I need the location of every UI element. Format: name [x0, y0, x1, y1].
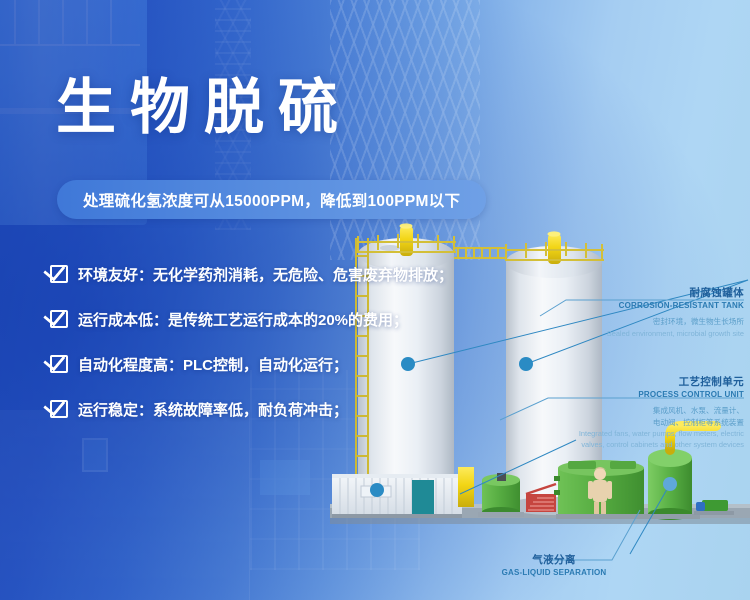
subtitle-text: 处理硫化氢浓度可从15000PPM，降低到100PPM以下: [83, 189, 460, 211]
annotation-desc-en-line1: Integrated fans, water pumps, flow meter…: [532, 428, 744, 439]
feature-text: 自动化程度高：PLC控制，自动化运行；: [78, 354, 348, 375]
feature-list: 环境友好：无化学药剂消耗，无危险、危害废弃物排放； 运行成本低：是传统工艺运行成…: [50, 262, 453, 442]
process-control-container: [332, 474, 462, 518]
tank-marker-right: [519, 357, 533, 371]
checkbox-checked-icon: [50, 310, 68, 328]
control-unit-marker: [370, 483, 384, 497]
pump-skid: [694, 500, 734, 515]
annotation-title-cn: 工艺控制单元: [532, 375, 744, 389]
annotation-desc-cn: 密封环境，微生物生长场所: [534, 316, 744, 327]
list-item: 运行成本低：是传统工艺运行成本的20%的费用；: [50, 307, 453, 331]
annotation-desc-en: Sealed environment, microbial growth sit…: [534, 328, 744, 339]
annotation-title-en: CORROSION-RESISTANT TANK: [534, 300, 744, 311]
annotation-title-cn: 气液分离: [474, 553, 634, 567]
annotation-desc-en-line2: valves, control cabinets and other syste…: [532, 439, 744, 450]
annotation-gas-liquid-separation: 气液分离 GAS-LIQUID SEPARATION: [474, 553, 634, 578]
feature-text: 运行成本低：是传统工艺运行成本的20%的费用；: [78, 309, 408, 330]
page-title: 生物脱硫: [56, 78, 352, 138]
subtitle-badge: 处理硫化氢浓度可从15000PPM，降低到100PPM以下: [57, 180, 486, 219]
container-door: [412, 480, 434, 514]
annotation-desc-cn-line1: 集成风机、水泵、流量计、: [532, 405, 744, 416]
list-item: 环境友好：无化学药剂消耗，无危险、危害废弃物排放；: [50, 262, 453, 286]
list-item: 运行稳定：系统故障率低，耐负荷冲击；: [50, 397, 453, 421]
poster-canvas: 生物脱硫 处理硫化氢浓度可从15000PPM，降低到100PPM以下 环境友好：…: [0, 0, 750, 600]
gas-liquid-separator-drum: [478, 473, 524, 517]
annotation-desc-cn-line2: 电动阀、控制柜等系统装置: [532, 417, 744, 428]
catwalk: [454, 248, 506, 258]
annotation-title-en: PROCESS CONTROL UNIT: [532, 389, 744, 400]
checkbox-checked-icon: [50, 355, 68, 373]
checkbox-checked-icon: [50, 265, 68, 283]
list-item: 自动化程度高：PLC控制，自动化运行；: [50, 352, 453, 376]
separator-marker: [663, 477, 677, 491]
feature-text: 运行稳定：系统故障率低，耐负荷冲击；: [78, 399, 348, 420]
annotation-corrosion-resistant-tank: 耐腐蚀罐体 CORROSION-RESISTANT TANK 密封环境，微生物生…: [534, 286, 744, 339]
annotation-title-cn: 耐腐蚀罐体: [534, 286, 744, 300]
annotation-title-en: GAS-LIQUID SEPARATION: [474, 567, 634, 578]
annotation-process-control-unit: 工艺控制单元 PROCESS CONTROL UNIT 集成风机、水泵、流量计、…: [532, 375, 744, 450]
checkbox-checked-icon: [50, 400, 68, 418]
feature-text: 环境友好：无化学药剂消耗，无危险、危害废弃物排放；: [78, 264, 453, 285]
